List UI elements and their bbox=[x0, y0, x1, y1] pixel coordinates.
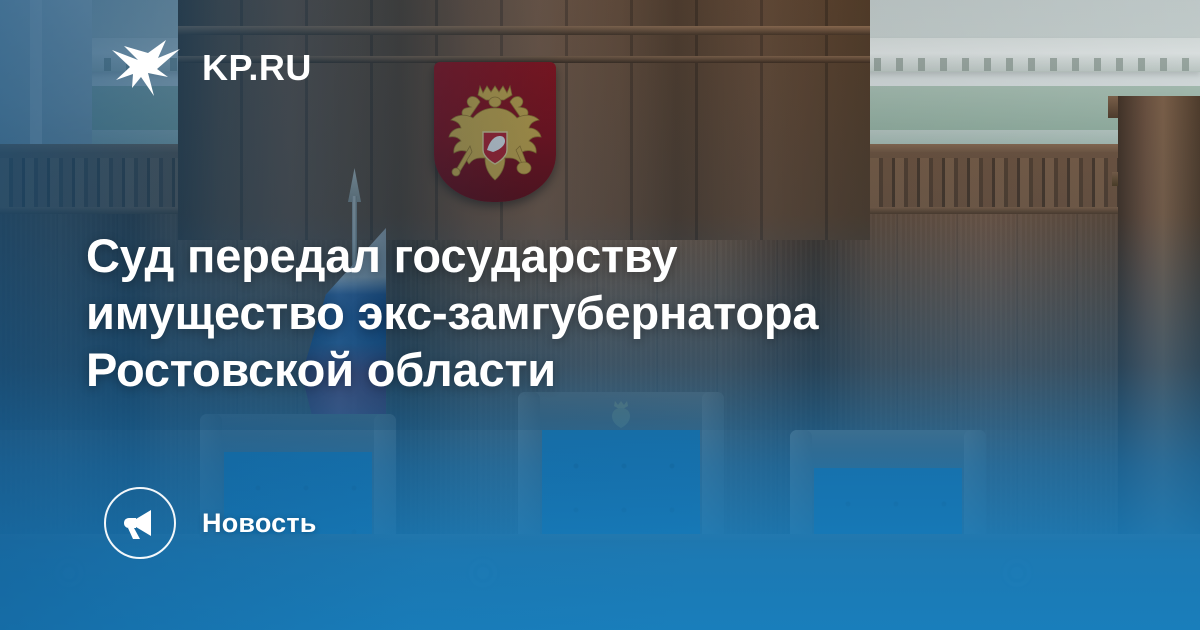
news-share-card: KP.RU Суд передал государству имущество … bbox=[0, 0, 1200, 630]
brand-logo[interactable]: KP.RU bbox=[108, 36, 312, 100]
headline-line-1: Суд передал государству bbox=[86, 227, 1046, 284]
brand-name: KP.RU bbox=[202, 50, 312, 86]
headline: Суд передал государству имущество экс-за… bbox=[86, 227, 1046, 398]
headline-line-3: Ростовской области bbox=[86, 341, 1046, 398]
swallow-bird-icon bbox=[108, 36, 184, 100]
news-badge-label: Новость bbox=[202, 508, 317, 539]
news-badge[interactable]: Новость bbox=[104, 487, 317, 559]
headline-line-2: имущество экс-замгубернатора bbox=[86, 284, 1046, 341]
megaphone-icon bbox=[121, 504, 159, 542]
megaphone-badge-circle bbox=[104, 487, 176, 559]
card-content: KP.RU Суд передал государству имущество … bbox=[0, 0, 1200, 630]
